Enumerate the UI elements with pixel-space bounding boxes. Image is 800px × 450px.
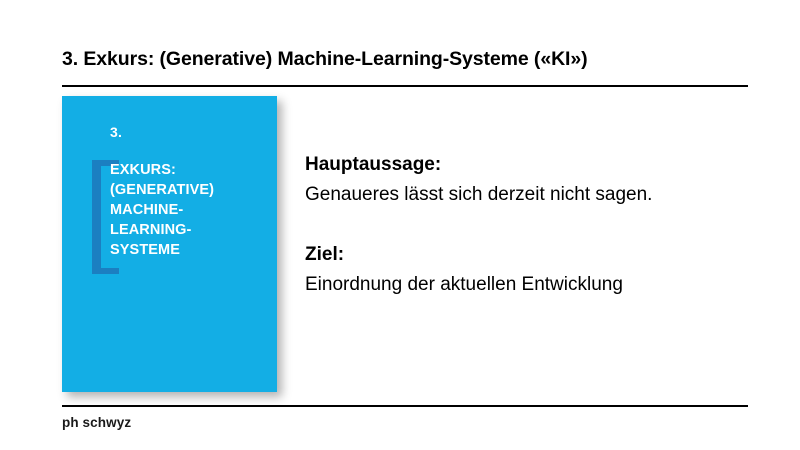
content-area: Hauptaussage: Genaueres lässt sich derze… — [305, 150, 750, 300]
chapter-heading-line: (GENERATIVE) — [110, 180, 270, 200]
block-label: Ziel: — [305, 240, 750, 270]
footer-brand: ph schwyz — [62, 415, 131, 430]
content-block-hauptaussage: Hauptaussage: Genaueres lässt sich derze… — [305, 150, 750, 210]
title-divider — [62, 85, 748, 87]
chapter-heading-line: EXKURS: — [110, 160, 270, 180]
block-label: Hauptaussage: — [305, 150, 750, 180]
chapter-heading-line: SYSTEME — [110, 240, 270, 260]
chapter-heading-line: LEARNING- — [110, 220, 270, 240]
block-text: Einordnung der aktuellen Entwicklung — [305, 270, 750, 300]
block-text: Genaueres lässt sich derzeit nicht sagen… — [305, 180, 750, 210]
slide: 3. Exkurs: (Generative) Machine-Learning… — [0, 0, 800, 450]
chapter-cover-card: 3. EXKURS: (GENERATIVE) MACHINE- LEARNIN… — [62, 96, 277, 392]
chapter-heading: EXKURS: (GENERATIVE) MACHINE- LEARNING- … — [110, 160, 270, 260]
content-block-ziel: Ziel: Einordnung der aktuellen Entwicklu… — [305, 240, 750, 300]
chapter-heading-line: MACHINE- — [110, 200, 270, 220]
footer-divider — [62, 405, 748, 407]
page-title: 3. Exkurs: (Generative) Machine-Learning… — [62, 48, 752, 71]
chapter-number: 3. — [110, 124, 122, 140]
